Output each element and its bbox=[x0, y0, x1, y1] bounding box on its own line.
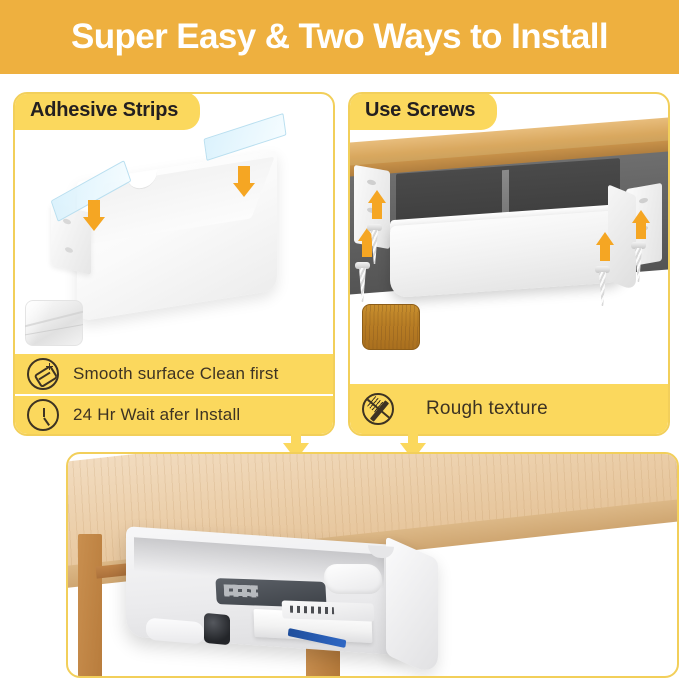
screws-note-list: Rough texture bbox=[350, 384, 668, 434]
clock-icon bbox=[27, 399, 59, 431]
stored-item-case bbox=[146, 617, 204, 644]
note-row-wait-time: 24 Hr Wait afer Install bbox=[15, 394, 333, 434]
method-card-adhesive: Adhesive Strips bbox=[13, 92, 335, 436]
card-tab-screws: Use Screws bbox=[348, 92, 497, 130]
bracket-screw-hole bbox=[639, 197, 648, 204]
desk-leg-left bbox=[78, 534, 102, 678]
marble-smooth-swatch bbox=[25, 300, 83, 346]
screws-illustration bbox=[350, 94, 668, 434]
note-text: Smooth surface Clean first bbox=[73, 364, 279, 384]
wood-grain-swatch bbox=[362, 304, 420, 350]
screw-icon bbox=[358, 262, 367, 302]
card-tab-label: Use Screws bbox=[365, 99, 475, 121]
card-tab-label: Adhesive Strips bbox=[30, 99, 178, 121]
stored-item-knob bbox=[204, 613, 230, 645]
tray-front-panel bbox=[390, 210, 626, 299]
note-text: 24 Hr Wait afer Install bbox=[73, 405, 240, 425]
method-card-screws: Use Screws bbox=[348, 92, 670, 436]
card-tab-adhesive: Adhesive Strips bbox=[13, 92, 200, 130]
under-desk-mount-view bbox=[350, 124, 668, 324]
wipe-clean-icon bbox=[27, 358, 59, 390]
bracket-screw-hole bbox=[367, 179, 376, 186]
stored-item-earbuds-case bbox=[323, 564, 383, 594]
note-row-smooth-surface: Smooth surface Clean first bbox=[15, 354, 333, 394]
bracket-screw-hole bbox=[65, 247, 73, 254]
screw-icon bbox=[370, 224, 379, 264]
screw-icon bbox=[634, 242, 643, 282]
screwdriver-icon bbox=[362, 393, 394, 425]
adhesive-note-list: Smooth surface Clean first 24 Hr Wait af… bbox=[15, 354, 333, 434]
note-text: Rough texture bbox=[426, 398, 548, 420]
installed-product-photo bbox=[66, 452, 679, 678]
bracket-screw-hole bbox=[63, 218, 71, 225]
page-title: Super Easy & Two Ways to Install bbox=[71, 17, 608, 57]
note-row-rough-texture: Rough texture bbox=[350, 384, 668, 434]
tray-right-side bbox=[386, 536, 438, 677]
screw-icon bbox=[598, 266, 607, 306]
header-banner: Super Easy & Two Ways to Install bbox=[0, 0, 679, 74]
stored-item-phone bbox=[282, 600, 375, 621]
